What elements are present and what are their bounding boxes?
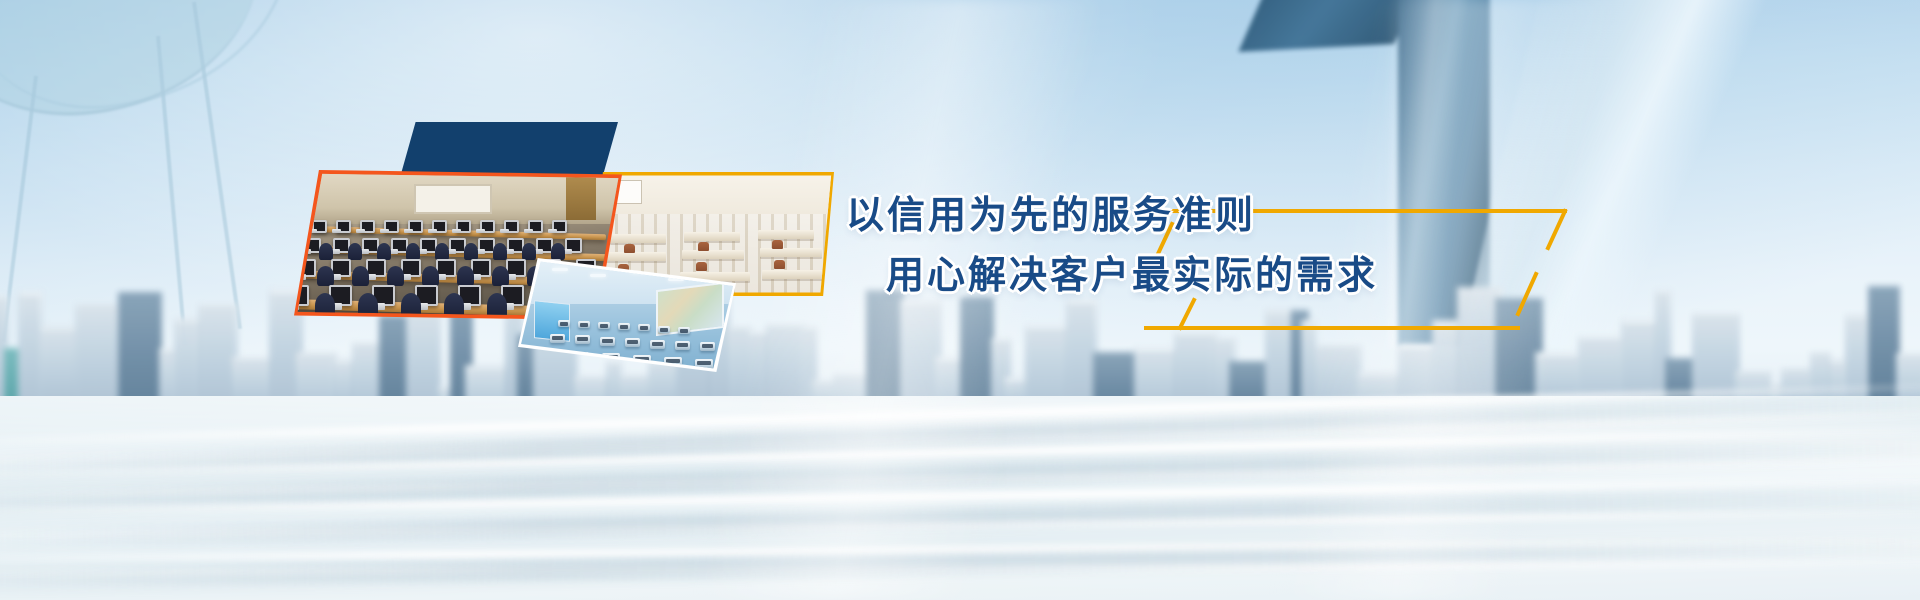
lab-chair: [487, 293, 507, 318]
skyline-building: [1692, 313, 1740, 409]
classroom-desk: [682, 250, 744, 259]
lab-keyboard: [294, 274, 306, 280]
control-console: [664, 357, 682, 367]
skyline-building: [1535, 352, 1581, 409]
lab-keyboard: [548, 229, 557, 233]
control-console: [598, 322, 610, 329]
ceiling-lamp: [552, 268, 568, 271]
lab-chair: [457, 266, 474, 286]
lab-keyboard: [452, 229, 461, 233]
skyline-building: [1665, 358, 1695, 410]
lab-chair: [493, 243, 507, 260]
skyline-building: [991, 338, 1011, 417]
ground-streak-line: [0, 558, 1920, 579]
lab-chair: [352, 266, 369, 286]
ground-streak-line: [0, 476, 1920, 516]
control-console: [578, 321, 590, 328]
control-console: [650, 340, 665, 349]
ground-streak-line: [0, 425, 1920, 479]
skyline-building: [1229, 361, 1273, 411]
skyline-building: [1432, 320, 1461, 414]
skyline-building: [1655, 290, 1672, 411]
ground-streak-line: [0, 507, 1920, 541]
foreground-ground-plane: [0, 396, 1920, 600]
lab-chair: [422, 266, 439, 286]
lab-keyboard: [300, 249, 311, 254]
skyline-building: [1004, 377, 1030, 410]
skyline-building: [1896, 353, 1920, 413]
ground-shade-band: [0, 437, 1920, 514]
control-console: [675, 341, 690, 350]
lab-keyboard: [476, 229, 485, 233]
lab-door: [566, 176, 596, 220]
skyline-building: [935, 357, 962, 413]
control-console: [700, 342, 715, 351]
lab-chair: [464, 243, 478, 260]
ground-streak-line: [0, 536, 1920, 563]
lab-keyboard: [524, 229, 533, 233]
control-console: [695, 359, 713, 369]
classroom-chair: [774, 260, 785, 269]
lab-chair: [315, 293, 335, 318]
photo-collage: [0, 0, 900, 420]
headline-line-1: 以信用为先的服务准则: [846, 196, 1392, 234]
ceiling-lamp: [590, 274, 606, 277]
control-console: [540, 350, 558, 360]
control-console: [633, 355, 651, 365]
hero-banner: 以信用为先的服务准则 用心解决客户最实际的需求: [0, 0, 1920, 600]
skyline-building: [1212, 338, 1237, 415]
skyline-building: [1810, 352, 1831, 411]
control-console: [558, 320, 570, 327]
skyline-building: [1829, 359, 1851, 411]
lab-keyboard: [308, 229, 317, 233]
skyline-building: [1495, 298, 1543, 417]
control-console: [678, 327, 690, 334]
classroom-desk: [758, 230, 814, 239]
lab-keyboard: [404, 229, 413, 233]
skyline-building: [1621, 319, 1660, 412]
skyline-building: [1398, 344, 1435, 413]
control-console: [625, 338, 640, 347]
lab-monitor: [294, 285, 309, 306]
control-console: [575, 335, 590, 344]
lab-chair: [551, 243, 565, 260]
lab-chair: [348, 243, 362, 260]
lab-keyboard: [356, 229, 365, 233]
numeral-one-flag: [1238, 0, 1429, 52]
ceiling-lamp: [668, 278, 684, 281]
lab-chair: [317, 266, 334, 286]
skyline-building: [1457, 287, 1503, 412]
skyline-building: [1868, 286, 1900, 408]
control-console: [571, 352, 589, 362]
lab-keyboard: [332, 229, 341, 233]
ground-streak-line: [0, 454, 1920, 501]
lab-chair: [294, 243, 304, 260]
skyline-building: [1578, 336, 1624, 415]
headline-block: 以信用为先的服务准则 用心解决客户最实际的需求: [832, 196, 1392, 346]
lab-keyboard: [500, 229, 509, 233]
skyline-building: [1769, 383, 1788, 413]
lab-monitor: [296, 259, 316, 277]
lab-chair: [387, 266, 404, 286]
control-console: [550, 334, 565, 343]
lab-chair: [294, 266, 299, 286]
classroom-desk: [684, 232, 740, 241]
classroom-chair: [696, 262, 707, 271]
lab-chair: [401, 293, 421, 318]
skyline-building: [1781, 368, 1812, 409]
lab-keyboard: [294, 303, 299, 310]
numeral-one-glass-highlight: [1388, 0, 1500, 348]
classroom-desk: [610, 234, 666, 243]
control-console: [638, 324, 650, 331]
skyline-building: [1736, 371, 1772, 412]
control-console: [618, 323, 630, 330]
lab-chair: [319, 243, 333, 260]
numeral-one-stem: [1398, 0, 1490, 346]
skyline-building: [1358, 372, 1405, 412]
glass-tower-decoration: [1452, 0, 1779, 380]
lab-keyboard: [428, 229, 437, 233]
lab-chair: [444, 293, 464, 318]
lab-chair: [377, 243, 391, 260]
lab-chair: [522, 243, 536, 260]
control-console: [602, 353, 620, 363]
skyline-building: [1134, 347, 1177, 416]
lab-keyboard: [380, 229, 389, 233]
skyline-building: [1315, 345, 1362, 416]
headline-line-2: 用心解决客户最实际的需求: [886, 256, 1392, 294]
ground-shade-band: [0, 484, 1920, 550]
control-console: [658, 326, 670, 333]
control-console: [600, 337, 615, 346]
bracket-top-right-tick: [1548, 211, 1565, 248]
ground-shade-band: [0, 536, 1920, 591]
lab-chair: [492, 266, 509, 286]
classroom-desk: [760, 248, 822, 257]
skyline-building: [1093, 352, 1139, 415]
bracket-bottom-right-tick: [1518, 274, 1536, 314]
classroom-chair: [772, 240, 783, 249]
skyline-building: [1845, 314, 1872, 414]
classroom-desk: [762, 270, 832, 279]
lab-chair: [435, 243, 449, 260]
lab-chair: [358, 293, 378, 318]
classroom-chair: [698, 242, 709, 251]
classroom-desk: [604, 252, 666, 261]
lab-whiteboard: [414, 184, 492, 214]
lab-chair: [406, 243, 420, 260]
classroom-chair: [624, 244, 635, 253]
